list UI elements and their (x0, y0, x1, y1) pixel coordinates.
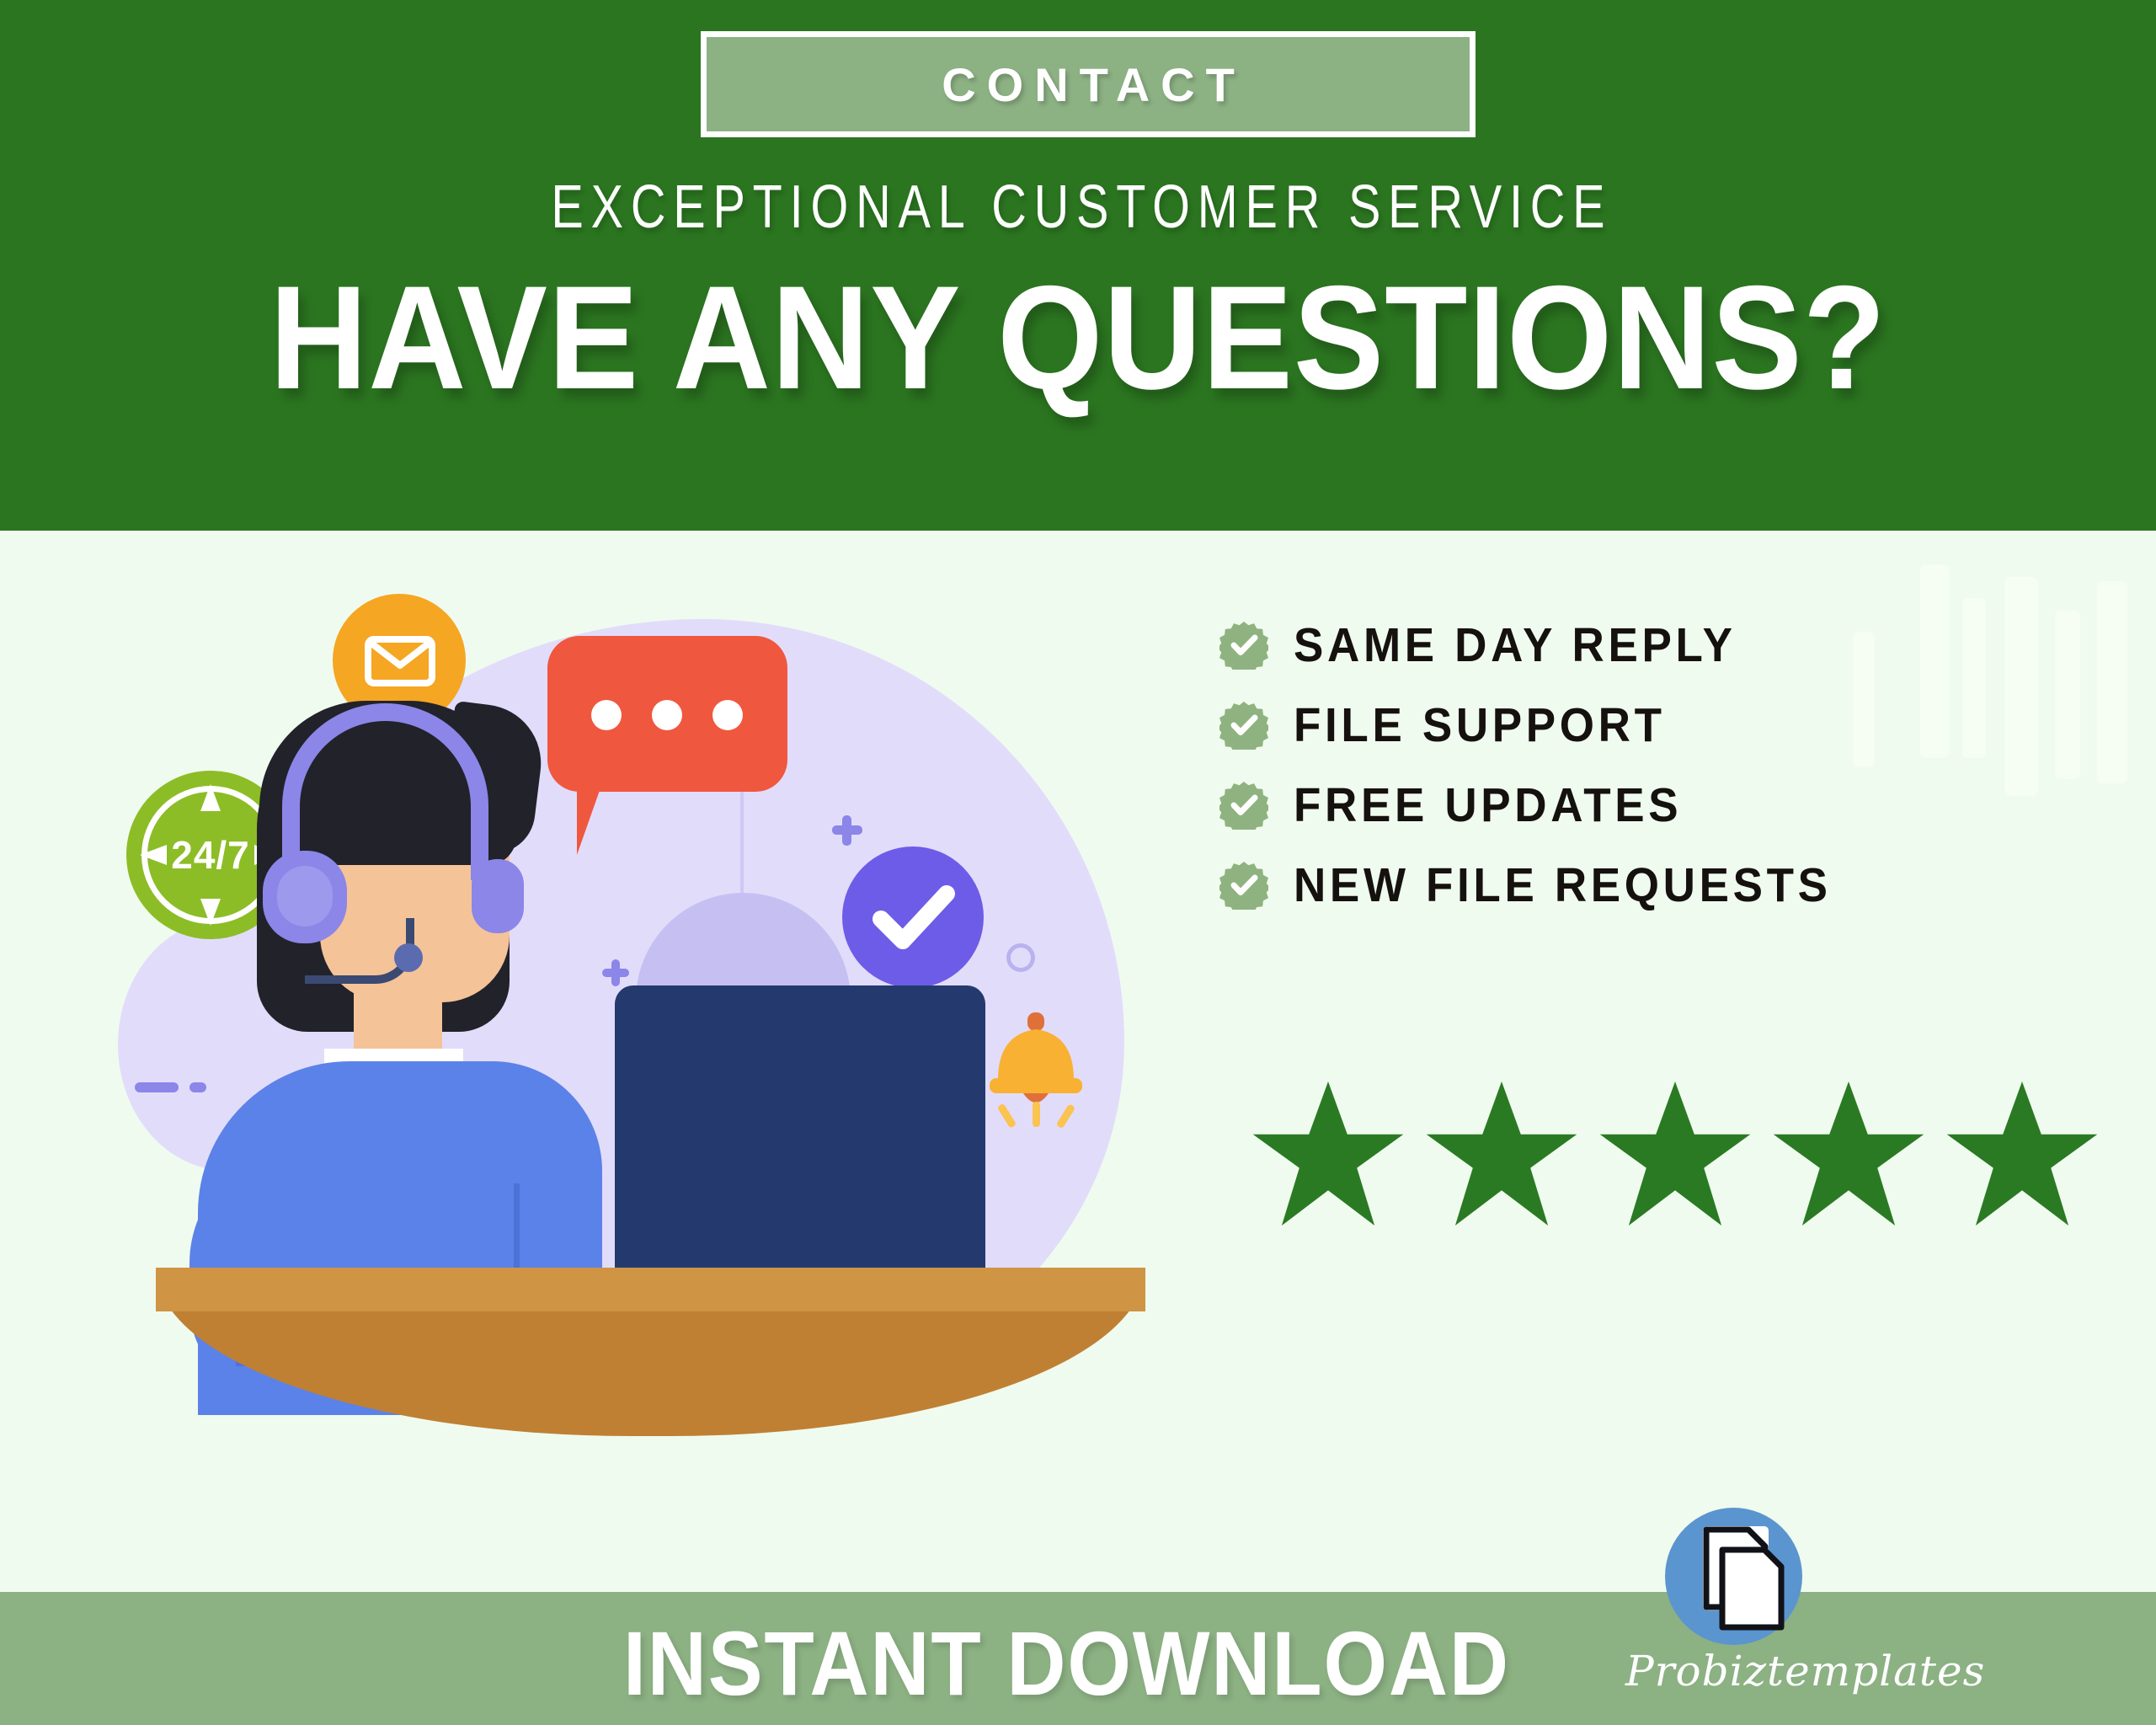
feature-label: SAME DAY REPLY (1294, 617, 1737, 673)
headset-mic-tip (394, 943, 423, 972)
bell-glyph (981, 1011, 1091, 1137)
check-badge-glyph (1219, 861, 1268, 910)
header-headline: HAVE ANY QUESTIONS? (86, 261, 2069, 416)
lamp-cord (740, 792, 744, 897)
desk-surface (156, 1268, 1145, 1311)
feature-item: FILE SUPPORT (1219, 685, 2062, 765)
plus-decoration (842, 815, 851, 846)
stacked-documents-icon-front (1719, 1546, 1785, 1631)
poster-canvas: CONTACT EXCEPTIONAL CUSTOMER SERVICE HAV… (0, 0, 2156, 1725)
feature-label: FILE SUPPORT (1294, 697, 1666, 753)
brand-name: Probiztemplates (1625, 1647, 1903, 1696)
contact-badge: CONTACT (701, 31, 1476, 137)
chat-bubble-icon (547, 636, 787, 792)
contact-badge-label: CONTACT (931, 57, 1246, 112)
customer-support-agent-illustration: 24/7 (109, 556, 1221, 1567)
check-badge-glyph (1219, 781, 1268, 830)
header-band: CONTACT EXCEPTIONAL CUSTOMER SERVICE HAV… (0, 0, 2156, 531)
typing-dot (652, 700, 682, 730)
feature-item: FREE UPDATES (1219, 765, 2062, 845)
feature-item: SAME DAY REPLY (1219, 605, 2062, 685)
check-badge-glyph (1219, 701, 1268, 750)
check-badge-icon (1219, 621, 1268, 670)
check-badge-icon (1219, 701, 1268, 750)
dash-decoration (135, 1082, 179, 1092)
check-glyph (842, 846, 984, 988)
monitor-screen (615, 985, 985, 1306)
typing-dot (712, 700, 743, 730)
feature-item: NEW FILE REQUESTS (1219, 845, 2062, 925)
chat-bubble-tail (577, 783, 653, 855)
header-subheading: EXCEPTIONAL CUSTOMER SERVICE (216, 173, 1940, 242)
check-circle-icon (842, 846, 984, 988)
instant-download-label: INSTANT DOWNLOAD (623, 1610, 1510, 1716)
star-rating (1248, 1076, 2102, 1232)
plus-decoration (611, 959, 620, 986)
star-icon (1942, 1076, 2102, 1232)
notification-bell-icon (981, 1011, 1091, 1137)
watermark-texture (2097, 581, 2127, 783)
star-icon (1422, 1076, 1582, 1232)
feature-label: FREE UPDATES (1294, 777, 1682, 833)
star-icon (1248, 1076, 1408, 1232)
feature-label: NEW FILE REQUESTS (1294, 857, 1832, 913)
check-badge-icon (1219, 861, 1268, 910)
dash-decoration (189, 1082, 206, 1092)
star-icon (1769, 1076, 1929, 1232)
ring-decoration (1006, 943, 1035, 972)
check-badge-icon (1219, 781, 1268, 830)
star-icon (1595, 1076, 1755, 1232)
feature-list: SAME DAY REPLY FILE SUPPORT FREE UPDATES (1219, 605, 2062, 925)
clock-badge-label: 24/7 (171, 832, 250, 878)
typing-dot (591, 700, 622, 730)
check-badge-glyph (1219, 621, 1268, 670)
headset-earcup-right (472, 859, 524, 933)
